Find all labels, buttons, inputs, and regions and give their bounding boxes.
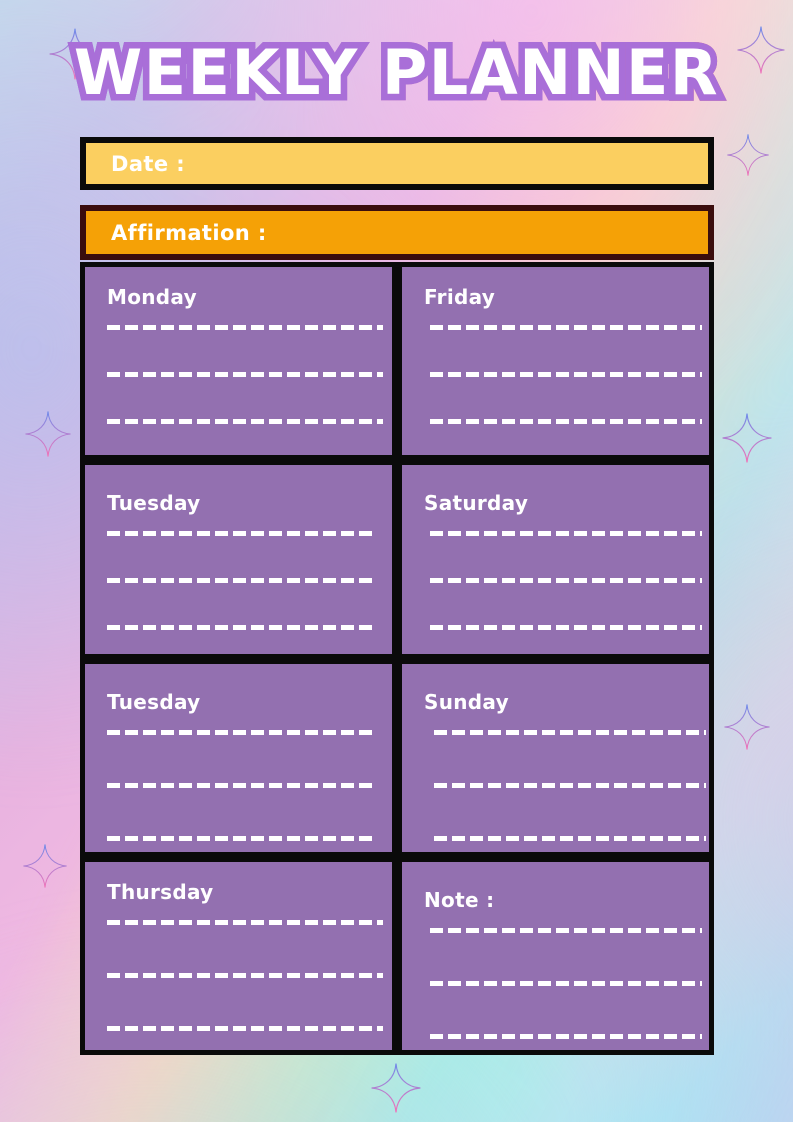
writing-lines-tuesday-1[interactable]: [107, 531, 372, 658]
writing-lines-friday[interactable]: [430, 325, 689, 460]
writing-lines-tuesday-2[interactable]: [107, 730, 372, 857]
writing-line[interactable]: [430, 325, 702, 330]
writing-line[interactable]: [107, 625, 375, 630]
grid-cell-sunday[interactable]: Sunday: [397, 659, 714, 857]
cell-label-sunday: Sunday: [424, 690, 689, 714]
writing-lines-thursday[interactable]: [107, 920, 372, 1055]
writing-line[interactable]: [430, 981, 702, 986]
writing-line[interactable]: [107, 1026, 383, 1031]
cell-label-note: Note :: [424, 888, 689, 912]
writing-line[interactable]: [107, 973, 383, 978]
affirmation-field[interactable]: Affirmation :: [80, 205, 714, 260]
writing-line[interactable]: [107, 836, 375, 841]
writing-line[interactable]: [107, 920, 383, 925]
cell-label-tuesday-2: Tuesday: [107, 690, 372, 714]
writing-line[interactable]: [430, 531, 702, 536]
writing-lines-monday[interactable]: [107, 325, 372, 460]
writing-line[interactable]: [107, 531, 375, 536]
date-field[interactable]: Date :: [80, 137, 714, 190]
writing-line[interactable]: [430, 928, 702, 933]
cell-label-tuesday-1: Tuesday: [107, 491, 372, 515]
writing-line[interactable]: [430, 419, 702, 424]
grid-cell-tuesday-2[interactable]: Tuesday: [80, 659, 397, 857]
page-title-text: WEEKLY PLANNER: [0, 34, 793, 112]
writing-lines-sunday[interactable]: [434, 730, 689, 857]
writing-line[interactable]: [430, 625, 702, 630]
writing-line[interactable]: [434, 783, 706, 788]
grid-cell-note[interactable]: Note :: [397, 857, 714, 1055]
grid-cell-friday[interactable]: Friday: [397, 262, 714, 460]
writing-line[interactable]: [107, 783, 375, 788]
page-title: WEEKLY PLANNER WEEKLY PLANNER: [0, 34, 793, 112]
writing-line[interactable]: [107, 372, 383, 377]
writing-line[interactable]: [430, 372, 702, 377]
writing-lines-note[interactable]: [430, 928, 689, 1055]
writing-line[interactable]: [107, 419, 383, 424]
cell-label-saturday: Saturday: [424, 491, 689, 515]
writing-lines-saturday[interactable]: [430, 531, 689, 658]
grid-cell-saturday[interactable]: Saturday: [397, 460, 714, 658]
writing-line[interactable]: [434, 836, 706, 841]
writing-line[interactable]: [107, 730, 375, 735]
writing-line[interactable]: [107, 578, 375, 583]
cell-label-friday: Friday: [424, 285, 689, 309]
writing-line[interactable]: [434, 730, 706, 735]
date-field-label: Date :: [111, 152, 185, 176]
grid-cell-thursday[interactable]: Thursday: [80, 857, 397, 1055]
cell-label-monday: Monday: [107, 285, 372, 309]
grid-cell-monday[interactable]: Monday: [80, 262, 397, 460]
planner-page: WEEKLY PLANNER WEEKLY PLANNER Date : Aff…: [0, 0, 793, 1122]
writing-line[interactable]: [430, 578, 702, 583]
weekly-grid: Monday Friday Tuesday Satu: [80, 262, 714, 1055]
grid-cell-tuesday-1[interactable]: Tuesday: [80, 460, 397, 658]
writing-line[interactable]: [430, 1034, 702, 1039]
writing-line[interactable]: [107, 325, 383, 330]
cell-label-thursday: Thursday: [107, 880, 372, 904]
affirmation-field-label: Affirmation :: [111, 221, 267, 245]
